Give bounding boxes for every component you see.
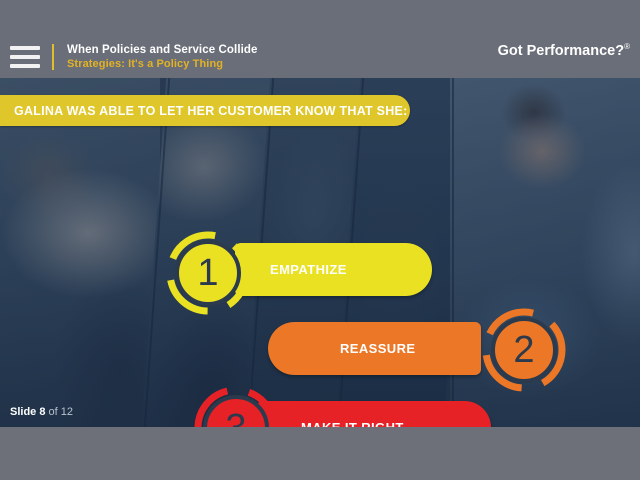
step-label-2: REASSURE [340, 341, 415, 356]
app-header-bar: When Policies and Service Collide Strate… [0, 0, 640, 78]
course-title: When Policies and Service Collide [67, 44, 258, 57]
stage-backdrop-bottom [0, 427, 640, 480]
registered-mark-icon: ® [624, 42, 630, 51]
step-label-3: MAKE IT RIGHT [301, 420, 404, 427]
slide-counter: Slide 8 of 12 [10, 406, 73, 418]
step-pill-3[interactable]: MAKE IT RIGHT [257, 401, 491, 427]
slide-counter-total: of 12 [45, 406, 73, 418]
step-number-badge-2: 2 [481, 307, 567, 393]
hamburger-bar [10, 64, 40, 68]
step-number-2: 2 [481, 307, 567, 393]
course-subtitle: Strategies: It's a Policy Thing [67, 58, 258, 70]
presentation-viewport: When Policies and Service Collide Strate… [0, 0, 640, 480]
hamburger-bar [10, 55, 40, 59]
step-number-badge-1: 1 [165, 230, 251, 316]
step-label-1: EMPATHIZE [270, 262, 347, 277]
step-pill-1[interactable]: EMPATHIZE [235, 243, 432, 296]
brand-logo: Got Performance?® [498, 42, 630, 59]
step-number-badge-3: 3 [193, 385, 279, 427]
slide-heading-banner: GALINA WAS ABLE TO LET HER CUSTOMER KNOW… [0, 95, 410, 126]
step-pill-2[interactable]: REASSURE [268, 322, 481, 375]
hamburger-bar [10, 46, 40, 50]
slide-stage: GALINA WAS ABLE TO LET HER CUSTOMER KNOW… [0, 78, 640, 427]
slide-heading-text: GALINA WAS ABLE TO LET HER CUSTOMER KNOW… [14, 104, 408, 118]
brand-text: Got Performance? [498, 43, 625, 59]
hamburger-menu-icon[interactable] [10, 46, 40, 68]
step-number-1: 1 [165, 230, 251, 316]
slide-counter-current: Slide 8 [10, 406, 45, 418]
header-divider [52, 44, 54, 70]
course-titles: When Policies and Service Collide Strate… [67, 44, 258, 70]
step-number-3: 3 [193, 385, 279, 427]
